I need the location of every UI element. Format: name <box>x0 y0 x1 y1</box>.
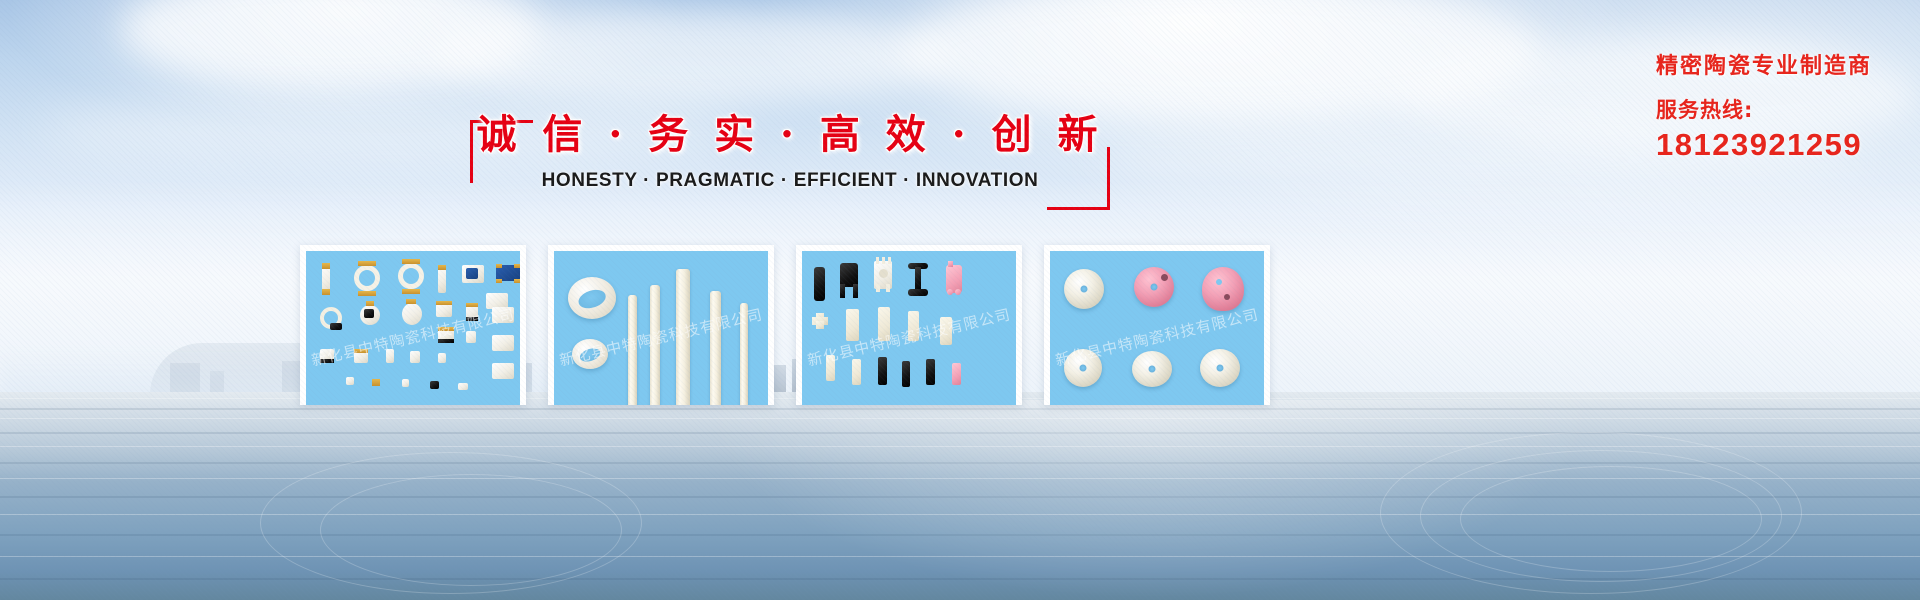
slogan-chinese: 诚 信 · 务 实 · 高 效 · 创 新 <box>470 108 1110 162</box>
panel-reflection <box>300 405 526 477</box>
hero-banner: 诚 信 · 务 实 · 高 效 · 创 新 HONESTY · PRAGMATI… <box>0 0 1920 600</box>
hotline-number[interactable]: 18123921259 <box>1656 126 1872 164</box>
product-panel-ceramic-blocks-bars[interactable]: 新化县中特陶瓷科技有限公司 <box>796 245 1022 405</box>
panel-reflection <box>796 405 1022 477</box>
product-panel-smd-ceramic-components[interactable]: 新化县中特陶瓷科技有限公司 <box>300 245 526 405</box>
panel-reflection <box>548 405 774 477</box>
company-tagline: 精密陶瓷专业制造商 <box>1656 52 1872 82</box>
hotline-label: 服务热线: <box>1656 96 1872 124</box>
panel-image: 新化县中特陶瓷科技有限公司 <box>1050 251 1264 405</box>
cloud <box>430 10 950 105</box>
product-panel-ceramic-tubes-rods[interactable]: 新化县中特陶瓷科技有限公司 <box>548 245 774 405</box>
product-panel-ceramic-discs-nozzles[interactable]: 新化县中特陶瓷科技有限公司 <box>1044 245 1270 405</box>
contact-block: 精密陶瓷专业制造商 服务热线: 18123921259 <box>1656 52 1872 164</box>
slogan-english: HONESTY · PRAGMATIC · EFFICIENT · INNOVA… <box>470 170 1110 192</box>
panel-image: 新化县中特陶瓷科技有限公司 <box>802 251 1016 405</box>
panel-reflection <box>1044 405 1270 477</box>
ripple <box>320 474 622 586</box>
panel-image: 新化县中特陶瓷科技有限公司 <box>554 251 768 405</box>
slogan-block: 诚 信 · 务 实 · 高 效 · 创 新 HONESTY · PRAGMATI… <box>470 108 1110 208</box>
panel-image: 新化县中特陶瓷科技有限公司 <box>306 251 520 405</box>
